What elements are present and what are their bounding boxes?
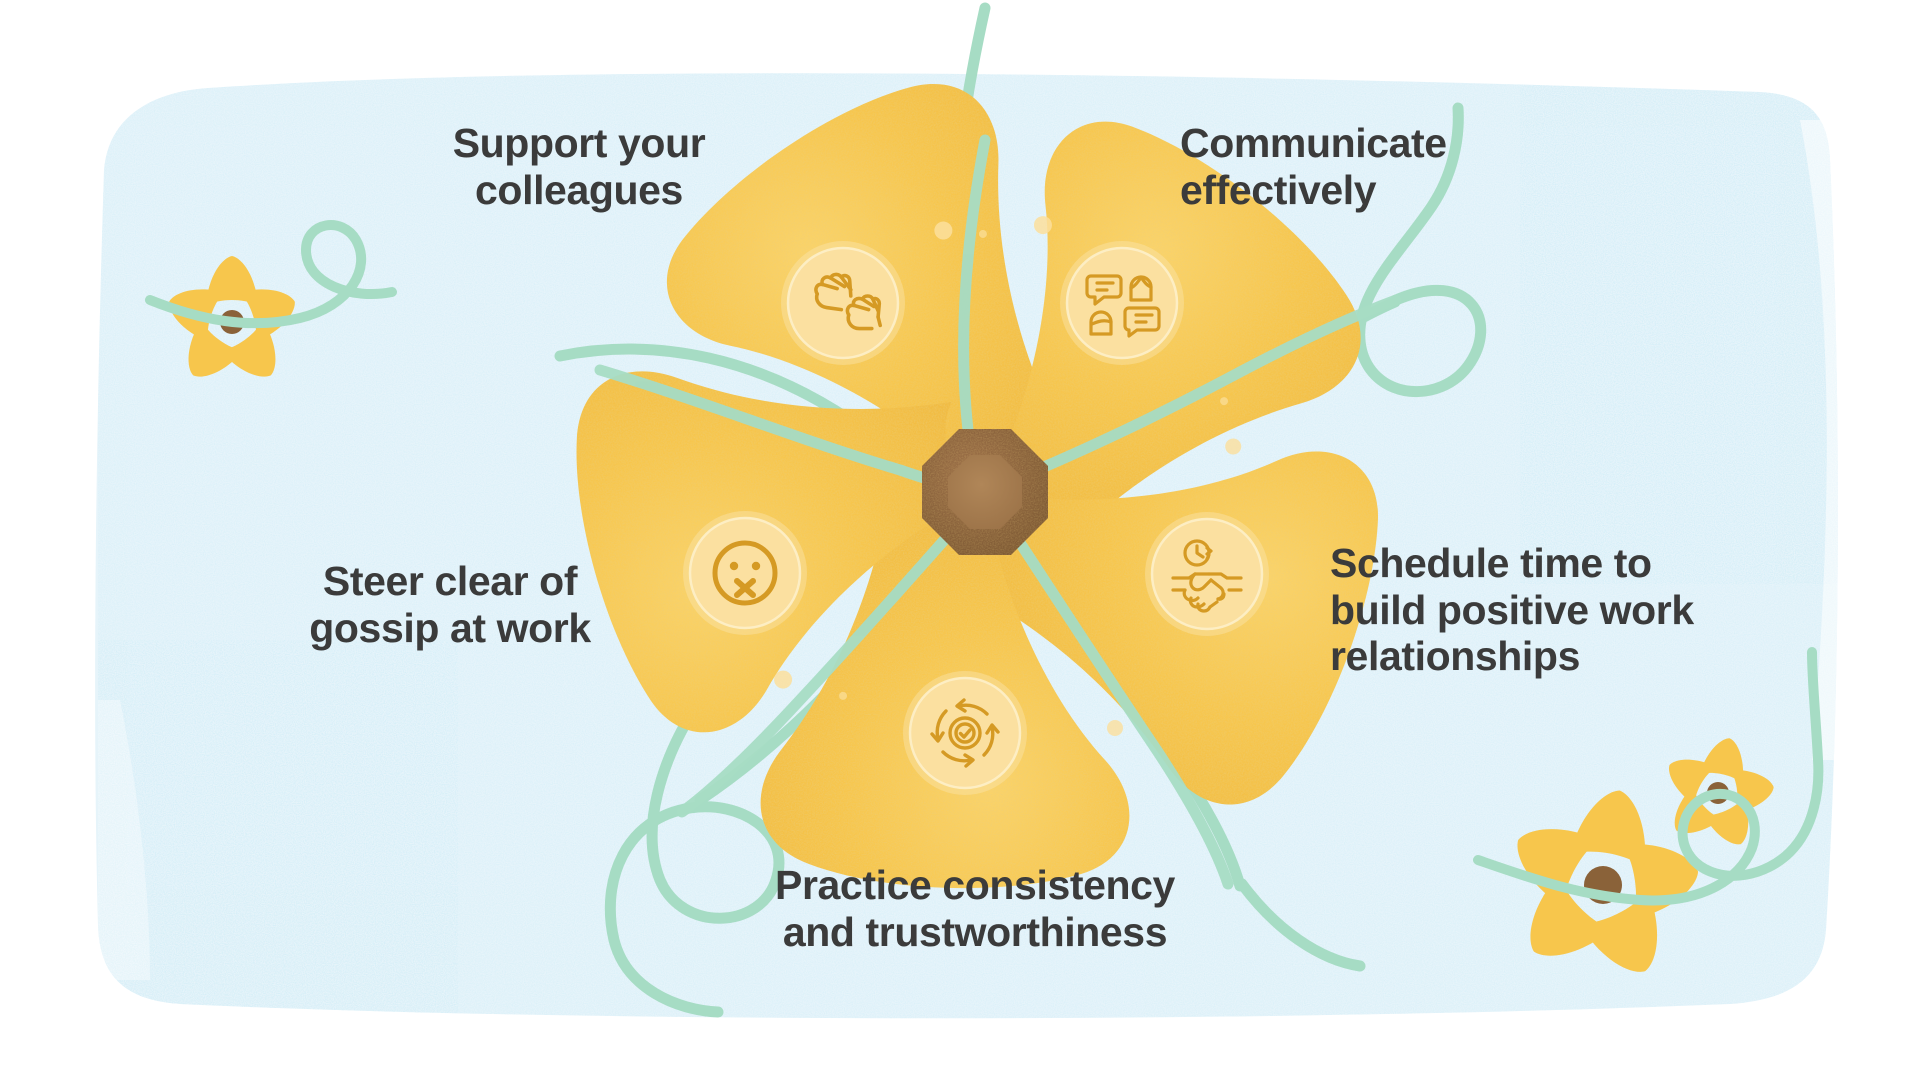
badge-practice[interactable] <box>903 671 1027 795</box>
deco-flower-bottom-right <box>1500 784 1703 988</box>
label-practice-consistency: Practice consistency and trustworthiness <box>740 862 1210 955</box>
label-support-your-colleagues: Support your colleagues <box>404 120 754 213</box>
infographic-canvas: Support your colleagues Communicate effe… <box>0 0 1920 1080</box>
badge-support[interactable] <box>781 241 905 365</box>
badge-schedule[interactable] <box>1145 512 1269 636</box>
vine-bottom-right-curl <box>1242 884 1360 966</box>
label-communicate-effectively: Communicate effectively <box>1180 120 1540 213</box>
badge-gossip[interactable] <box>683 511 807 635</box>
label-schedule-time: Schedule time to build positive work rel… <box>1330 540 1760 680</box>
badge-communicate[interactable] <box>1060 241 1184 365</box>
flower-center-inner <box>948 455 1022 529</box>
label-steer-clear-gossip: Steer clear of gossip at work <box>280 558 620 651</box>
flower-center[interactable] <box>922 429 1048 555</box>
